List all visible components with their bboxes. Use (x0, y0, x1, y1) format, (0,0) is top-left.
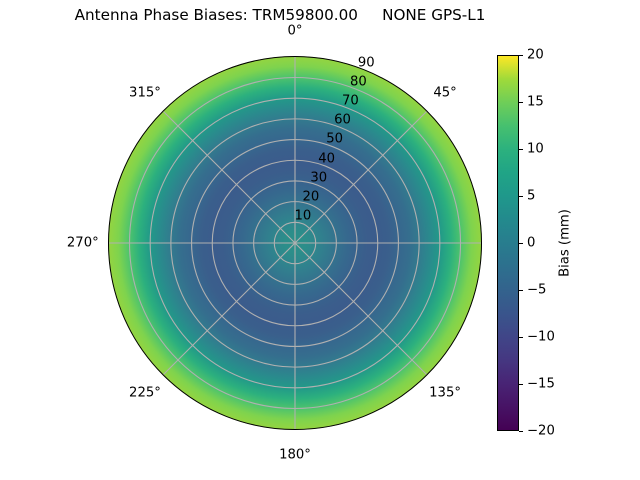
radial-tick-label-10: 10 (295, 208, 312, 223)
colorbar-tick--10 (519, 337, 523, 338)
radial-tick-label-20: 20 (302, 189, 319, 204)
radial-tick-label-40: 40 (318, 151, 335, 166)
theta-tick-label-45: 45° (433, 85, 456, 100)
colorbar-tick-label-15: 15 (527, 95, 544, 110)
theta-tick-label-315: 315° (129, 85, 161, 100)
colorbar-tick--20 (519, 431, 523, 432)
radial-tick-label-70: 70 (342, 94, 359, 109)
theta-tick-label-135: 135° (429, 386, 461, 401)
polar-axes[interactable] (108, 56, 482, 430)
radial-tick-label-80: 80 (350, 75, 367, 90)
theta-tick-label-0: 0° (288, 23, 303, 38)
colorbar-tick--15 (519, 384, 523, 385)
colorbar-tick-label-20: 20 (527, 48, 544, 63)
theta-tick-label-270: 270° (67, 236, 99, 251)
radial-tick-label-60: 60 (334, 113, 351, 128)
colorbar-gradient (497, 55, 519, 431)
colorbar-tick-label--10: −10 (527, 330, 555, 345)
colorbar-tick-10 (519, 149, 523, 150)
colorbar-tick--5 (519, 290, 523, 291)
radial-tick-label-50: 50 (326, 132, 343, 147)
colorbar-tick-label-5: 5 (527, 189, 535, 204)
colorbar-tick-15 (519, 102, 523, 103)
colorbar-tick-label--15: −15 (527, 377, 555, 392)
theta-tick-label-225: 225° (129, 386, 161, 401)
polar-plot-area (108, 56, 482, 430)
polar-bias-field (108, 56, 482, 430)
colorbar-axis-label: Bias (mm) (558, 209, 573, 277)
colorbar-tick-label--20: −20 (527, 424, 555, 439)
theta-tick-label-180: 180° (279, 448, 311, 463)
page-title: Antenna Phase Biases: TRM59800.00 NONE G… (0, 6, 560, 24)
colorbar-tick-label--5: −5 (527, 283, 546, 298)
colorbar[interactable]: 20151050−5−10−15−20 (497, 55, 519, 431)
colorbar-tick-5 (519, 196, 523, 197)
colorbar-tick-0 (519, 243, 523, 244)
colorbar-tick-label-10: 10 (527, 142, 544, 157)
figure-canvas: Antenna Phase Biases: TRM59800.00 NONE G… (0, 0, 640, 480)
radial-tick-label-90: 90 (358, 55, 375, 70)
colorbar-tick-label-0: 0 (527, 236, 535, 251)
colorbar-tick-20 (519, 55, 523, 56)
radial-tick-label-30: 30 (310, 170, 327, 185)
